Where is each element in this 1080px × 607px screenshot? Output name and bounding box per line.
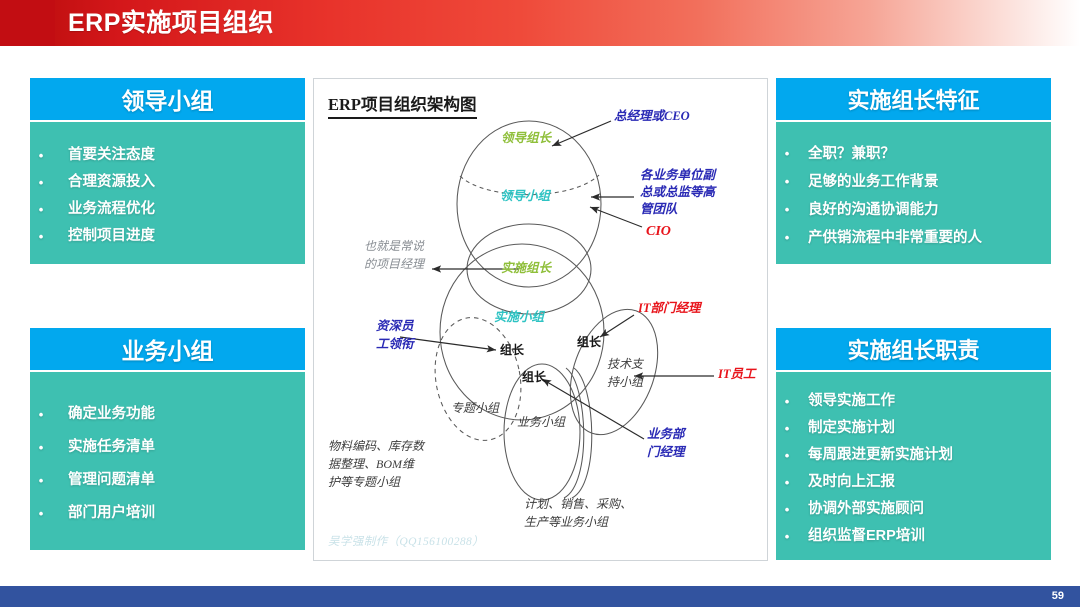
card-leader-traits-heading: 实施组长特征 (776, 78, 1051, 122)
bullet-icon: • (776, 168, 798, 196)
list-item: • 控制项目进度 (30, 223, 305, 250)
bullet-icon: • (776, 140, 798, 168)
list-item-label: 管理问题清单 (52, 464, 305, 497)
label-it-group-line2: 持小组 (607, 375, 643, 390)
list-item-label: 制定实施计划 (798, 415, 1051, 442)
callout-business-manager-line2: 门经理 (647, 445, 685, 461)
callout-senior-staff-line2: 工领衔 (376, 337, 414, 353)
callout-project-manager-line1: 也就是常说 (364, 239, 424, 254)
list-item-label: 产供销流程中非常重要的人 (798, 224, 1051, 252)
list-item-label: 每周跟进更新实施计划 (798, 442, 1051, 469)
bullet-icon: • (30, 398, 52, 431)
list-item-label: 全职？兼职？ (798, 140, 1051, 168)
callout-execs-line1: 各业务单位副 (640, 168, 715, 184)
card-leader-traits-body: • 全职？兼职？ • 足够的业务工作背景 • 良好的沟通协调能力 • 产供销流程… (776, 122, 1051, 264)
bullet-icon: • (776, 496, 798, 523)
callout-business-manager-line1: 业务部 (647, 427, 685, 443)
list-item-label: 协调外部实施顾问 (798, 496, 1051, 523)
note-topic-line2: 据整理、BOM维 (328, 457, 414, 472)
label-leader-group: 领导小组 (500, 189, 550, 205)
list-item: • 每周跟进更新实施计划 (776, 442, 1051, 469)
card-leader-traits[interactable]: 实施组长特征 • 全职？兼职？ • 足够的业务工作背景 • 良好的沟通协调能力 … (776, 78, 1051, 264)
arrow-senior-staff (400, 337, 496, 350)
note-topic-line3: 护等专题小组 (328, 475, 400, 490)
list-item-label: 足够的业务工作背景 (798, 168, 1051, 196)
bullet-icon: • (30, 431, 52, 464)
note-business-line2: 生产等业务小组 (524, 515, 608, 530)
bullet-icon: • (776, 388, 798, 415)
bullet-icon: • (776, 415, 798, 442)
callout-it-manager: IT部门经理 (638, 301, 701, 317)
card-leader-duties[interactable]: 实施组长职责 • 领导实施工作 • 制定实施计划 • 每周跟进更新实施计划 • … (776, 328, 1051, 560)
note-topic-line1: 物料编码、库存数 (328, 439, 424, 454)
bullet-icon: • (776, 224, 798, 252)
list-item: • 良好的沟通协调能力 (776, 196, 1051, 224)
bullet-icon: • (30, 196, 52, 223)
list-item: • 领导实施工作 (776, 388, 1051, 415)
bullet-icon: • (30, 223, 52, 250)
callout-cio: CIO (646, 223, 671, 241)
list-item: • 管理问题清单 (30, 464, 305, 497)
label-leader-head: 领导组长 (501, 131, 551, 147)
watermark: 吴学强制作（QQ156100288） (328, 535, 484, 549)
bullet-icon: • (776, 196, 798, 224)
it-support-group-ellipse (554, 297, 674, 447)
business-group-ellipse-back (572, 368, 592, 498)
list-item-label: 合理资源投入 (52, 169, 305, 196)
list-item: • 组织监督ERP培训 (776, 523, 1051, 550)
card-leader-duties-heading: 实施组长职责 (776, 328, 1051, 372)
list-item-label: 业务流程优化 (52, 196, 305, 223)
card-leader-duties-body: • 领导实施工作 • 制定实施计划 • 每周跟进更新实施计划 • 及时向上汇报 … (776, 372, 1051, 560)
footer-bar (0, 586, 1080, 607)
note-business-line1: 计划、销售、采购、 (524, 497, 632, 512)
bullet-icon: • (776, 523, 798, 550)
list-item: • 首要关注态度 (30, 142, 305, 169)
list-item-label: 首要关注态度 (52, 142, 305, 169)
label-business-lead: 组长 (522, 370, 546, 385)
arrow-ceo (552, 121, 611, 146)
arrow-cio (590, 207, 642, 227)
business-group-ellipse-mid (564, 368, 584, 498)
list-item: • 产供销流程中非常重要的人 (776, 224, 1051, 252)
list-item-label: 控制项目进度 (52, 223, 305, 250)
card-business[interactable]: 业务小组 • 确定业务功能 • 实施任务清单 • 管理问题清单 • 部门用户培训 (30, 328, 305, 550)
callout-project-manager-line2: 的项目经理 (364, 257, 424, 272)
list-item: • 确定业务功能 (30, 398, 305, 431)
slide-root: ERP实施项目组织 领导小组 • 首要关注态度 • 合理资源投入 • 业务流程优… (0, 0, 1080, 607)
list-item-label: 及时向上汇报 (798, 469, 1051, 496)
list-item: • 及时向上汇报 (776, 469, 1051, 496)
list-item-label: 领导实施工作 (798, 388, 1051, 415)
card-leadership-heading: 领导小组 (30, 78, 305, 122)
label-it-group-line1: 技术支 (607, 357, 643, 372)
list-item-label: 组织监督ERP培训 (798, 523, 1051, 550)
list-item-label: 确定业务功能 (52, 398, 305, 431)
bullet-icon: • (30, 142, 52, 169)
bullet-icon: • (30, 497, 52, 530)
label-topic-group: 专题小组 (451, 401, 499, 416)
list-item: • 足够的业务工作背景 (776, 168, 1051, 196)
callout-execs-line3: 管团队 (640, 202, 678, 218)
callout-ceo: 总经理或CEO (614, 109, 690, 125)
list-item: • 全职？兼职？ (776, 140, 1051, 168)
card-business-heading: 业务小组 (30, 328, 305, 372)
list-item: • 协调外部实施顾问 (776, 496, 1051, 523)
label-business-group: 业务小组 (517, 415, 565, 430)
list-item-label: 部门用户培训 (52, 497, 305, 530)
bullet-icon: • (776, 442, 798, 469)
label-impl-group: 实施小组 (494, 310, 544, 326)
list-item-label: 实施任务清单 (52, 431, 305, 464)
bullet-icon: • (30, 464, 52, 497)
topic-group-ellipse (425, 310, 531, 448)
callout-it-staff: IT员工 (718, 367, 756, 383)
list-item: • 业务流程优化 (30, 196, 305, 223)
bullet-icon: • (30, 169, 52, 196)
page-number: 59 (1052, 586, 1064, 607)
list-item: • 制定实施计划 (776, 415, 1051, 442)
label-it-lead: 组长 (577, 335, 601, 350)
label-topic-lead: 组长 (500, 343, 524, 358)
title-accent-block (0, 0, 55, 46)
card-business-body: • 确定业务功能 • 实施任务清单 • 管理问题清单 • 部门用户培训 (30, 372, 305, 550)
list-item-label: 良好的沟通协调能力 (798, 196, 1051, 224)
callout-senior-staff-line1: 资深员 (376, 319, 414, 335)
card-leadership-body: • 首要关注态度 • 合理资源投入 • 业务流程优化 • 控制项目进度 (30, 122, 305, 264)
list-item: • 部门用户培训 (30, 497, 305, 530)
label-impl-head: 实施组长 (501, 261, 551, 277)
list-item: • 实施任务清单 (30, 431, 305, 464)
list-item: • 合理资源投入 (30, 169, 305, 196)
arrow-it-manager (600, 315, 634, 337)
card-leadership[interactable]: 领导小组 • 首要关注态度 • 合理资源投入 • 业务流程优化 • 控制项目进度 (30, 78, 305, 264)
org-chart-panel[interactable]: ERP项目组织架构图 (313, 78, 768, 561)
bullet-icon: • (776, 469, 798, 496)
page-title: ERP实施项目组织 (68, 6, 274, 40)
callout-execs-line2: 总或总监等高 (640, 185, 715, 201)
